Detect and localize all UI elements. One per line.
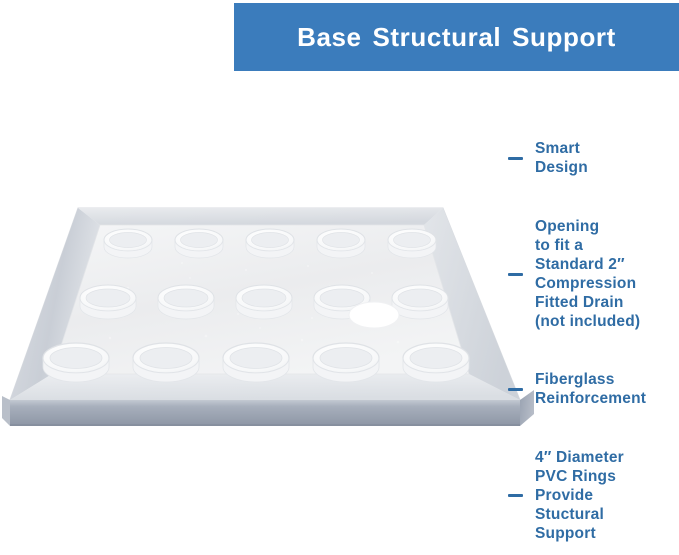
pvc-ring (175, 229, 223, 258)
pvc-ring (223, 343, 289, 382)
page-title: Base Structural Support (297, 22, 616, 53)
dash-marker-icon (508, 157, 523, 160)
pvc-ring (104, 229, 152, 258)
callout-drain-opening-label: Opening to fit a Standard 2″ Compression… (535, 217, 640, 331)
pvc-ring (158, 285, 214, 319)
pvc-ring (80, 285, 136, 319)
shower-base-svg (0, 178, 540, 448)
pvc-ring (392, 285, 448, 319)
callout-pvc-rings: 4″ Diameter PVC Rings Provide Stuctural … (508, 448, 624, 543)
base-front-wall (10, 400, 520, 426)
callout-smart-design-label: Smart Design (535, 139, 588, 177)
pvc-ring (313, 343, 379, 382)
callout-smart-design: Smart Design (508, 139, 588, 177)
callout-pvc-rings-label: 4″ Diameter PVC Rings Provide Stuctural … (535, 448, 624, 543)
pvc-ring (317, 229, 365, 258)
pvc-ring (403, 343, 469, 382)
pvc-ring (236, 285, 292, 319)
dash-marker-icon (508, 494, 523, 497)
base-rim-back (78, 208, 443, 225)
dash-marker-icon (508, 273, 523, 276)
pvc-ring (246, 229, 294, 258)
pvc-ring (43, 343, 109, 382)
dash-marker-icon (508, 388, 523, 391)
product-illustration (0, 178, 540, 448)
base-left-wall (2, 396, 10, 426)
pvc-ring (133, 343, 199, 382)
infographic-page: Base Structural Support (0, 0, 679, 555)
pvc-ring (388, 229, 436, 258)
callout-fiberglass: Fiberglass Reinforcement (508, 370, 646, 408)
callout-fiberglass-label: Fiberglass Reinforcement (535, 370, 646, 408)
callout-drain-opening: Opening to fit a Standard 2″ Compression… (508, 217, 640, 331)
header-banner: Base Structural Support (234, 3, 679, 71)
drain-opening (349, 302, 399, 328)
